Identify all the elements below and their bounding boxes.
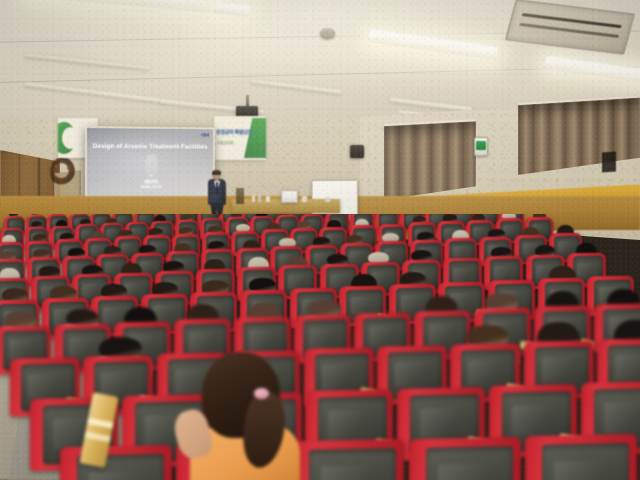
audience-seating <box>0 214 640 480</box>
seat-cushion <box>542 443 629 480</box>
seat-cushion <box>425 446 512 480</box>
seat-back <box>292 439 404 480</box>
emergency-exit-sign <box>474 137 488 156</box>
tablet-arm-band <box>84 431 111 442</box>
banner-headline: 환경공학 특별강연 <box>216 129 252 136</box>
slide-subtitle-line-1: °°° <box>87 175 213 180</box>
seat-back <box>409 436 521 480</box>
slide-logo-top-right: 서울대 <box>201 132 210 137</box>
decorative-wreath <box>50 157 75 187</box>
podium <box>236 188 244 204</box>
table-item <box>258 194 261 202</box>
auditorium-seat[interactable] <box>525 434 637 480</box>
seat-back <box>525 434 637 480</box>
table-item <box>325 197 330 202</box>
event-banner-right: 환경공학 특별강연 초청강연회 <box>214 116 266 160</box>
seat-cushion <box>309 449 396 480</box>
window-gap <box>602 152 616 173</box>
presenter <box>206 171 228 215</box>
seat-back <box>60 445 172 480</box>
laptop <box>281 190 298 203</box>
table-item <box>266 196 270 202</box>
banner-subline: 초청강연회 <box>217 141 234 146</box>
tablet-arm-band <box>87 418 114 429</box>
slide-subtitle-line-2: 서울대학교 <box>87 180 213 185</box>
smoke-detector-icon <box>320 28 335 39</box>
window-curtain <box>384 121 476 200</box>
slide-subtitle: °°° 서울대학교 Korea, 10. 05 <box>87 175 213 190</box>
auditorium-seat[interactable] <box>60 445 172 480</box>
slide-subtitle-line-3: Korea, 10. 05 <box>87 185 213 191</box>
auditorium-seat[interactable] <box>292 439 404 480</box>
slide-title: Design of Arsenic Treatment Facilities <box>92 143 208 151</box>
hair-tie <box>254 388 269 399</box>
table-item <box>302 196 307 202</box>
wall-speaker <box>350 145 364 158</box>
foreground-attendee <box>188 352 306 480</box>
slide-graphic <box>144 154 157 176</box>
lecture-hall-photo: 환경공학 특별강연 초청강연회 Design of Arsenic Treatm… <box>0 0 640 480</box>
auditorium-seat[interactable] <box>409 436 521 480</box>
table-item <box>252 195 255 202</box>
